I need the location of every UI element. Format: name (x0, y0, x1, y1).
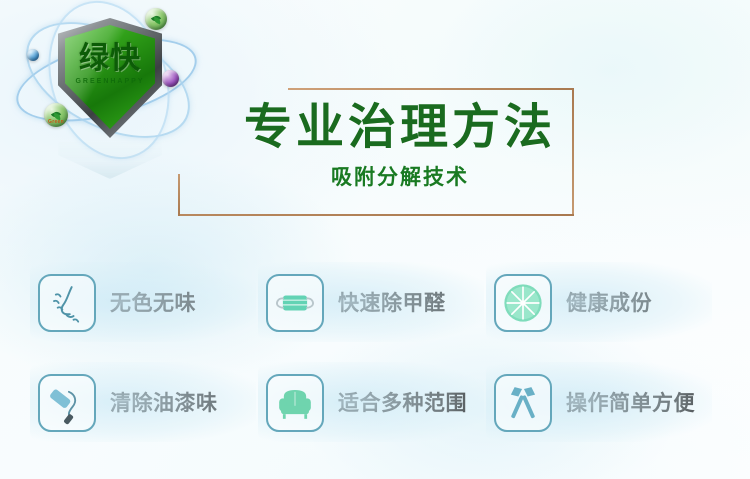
sphere-caption: Green (44, 119, 68, 125)
frame-border-bottom (178, 214, 574, 216)
logo-english-name: GREENHAPPY (58, 78, 162, 86)
feature-label: 无色无味 (110, 291, 196, 315)
logo-chinese-name: 绿快 (58, 44, 162, 74)
feature-item-multiple-areas[interactable]: 适合多种范围 (266, 356, 500, 450)
feature-label: 清除油漆味 (110, 391, 218, 415)
frame-border-top (288, 88, 574, 90)
feature-label: 适合多种范围 (338, 391, 467, 415)
paint-roller-icon (38, 374, 96, 432)
orbit-sphere-purple-icon (162, 70, 179, 87)
face-mask-icon (266, 274, 324, 332)
feature-item-easy-operation[interactable]: 操作简单方便 (494, 356, 728, 450)
feature-grid: 无色无味 快速除甲醛 (0, 248, 750, 464)
feature-item-remove-paint-odor[interactable]: 清除油漆味 (38, 356, 272, 450)
promo-banner: 绿快 GREENHAPPY Green 专业治理方法 吸附分解技术 (0, 0, 750, 479)
citrus-slice-icon (494, 274, 552, 332)
shield-emblem-icon: 绿快 GREENHAPPY (58, 18, 162, 138)
page-title: 专业治理方法 (226, 98, 574, 156)
feature-item-colorless-odorless[interactable]: 无色无味 (38, 256, 272, 350)
feature-row-2: 清除油漆味 适合多种范围 (0, 356, 750, 450)
orbit-sphere-blue-icon (27, 49, 39, 61)
frame-border-left (178, 174, 180, 216)
feature-label: 快速除甲醛 (338, 291, 446, 315)
orbit-sphere-leaf-bottom-icon: Green (44, 103, 68, 127)
title-frame: 专业治理方法 吸附分解技术 (178, 88, 574, 216)
feature-item-fast-formaldehyde-removal[interactable]: 快速除甲醛 (266, 256, 500, 350)
sofa-icon (266, 374, 324, 432)
orbit-sphere-leaf-top-icon (145, 8, 167, 30)
nose-smell-icon (38, 274, 96, 332)
crossed-hammers-icon (494, 374, 552, 432)
feature-label: 操作简单方便 (566, 391, 695, 415)
page-subtitle: 吸附分解技术 (226, 164, 574, 190)
feature-item-healthy-ingredients[interactable]: 健康成份 (494, 256, 728, 350)
logo-reflection (58, 139, 162, 179)
feature-row-1: 无色无味 快速除甲醛 (0, 256, 750, 350)
feature-label: 健康成份 (566, 291, 652, 315)
